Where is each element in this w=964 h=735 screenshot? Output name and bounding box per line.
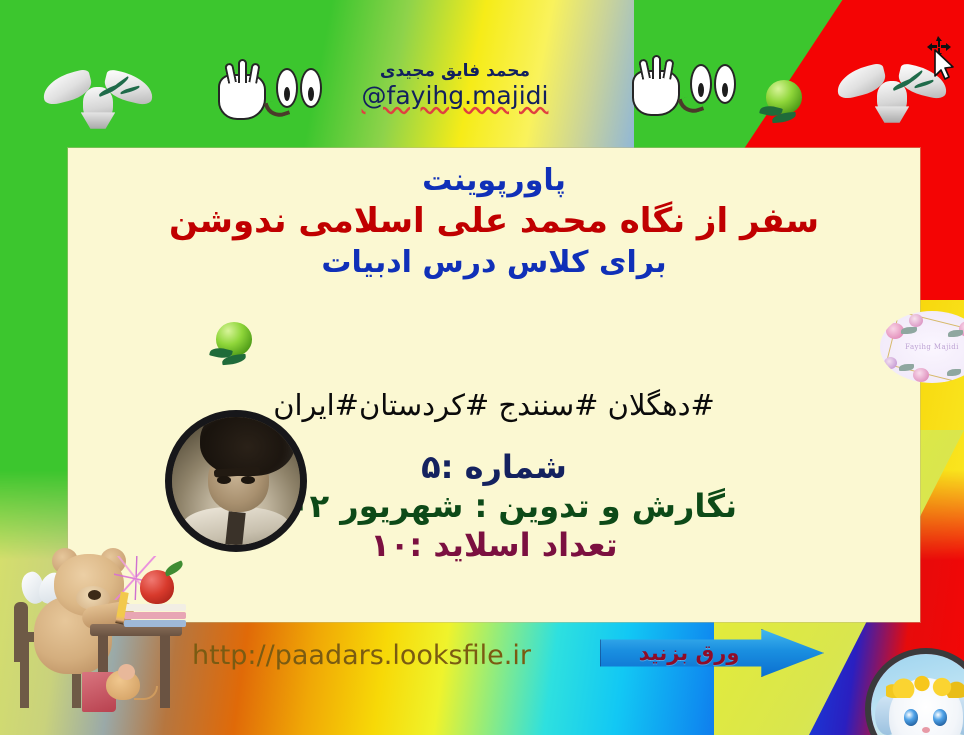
title-line-3: برای کلاس درس ادبیات [68, 244, 920, 282]
next-slide-button[interactable]: ورق بزنید [600, 629, 824, 677]
wreath-script-text: Fayihg Majidi [880, 343, 964, 351]
puppy-avatar-image [865, 648, 964, 735]
waving-hand-and-eyes-icon [632, 62, 750, 124]
mouse-cursor [920, 36, 960, 84]
move-cursor-icon [920, 36, 960, 84]
author-credit: محمد فایق مجیدی @fayihg.majidi [340, 62, 570, 110]
dove-with-olive-branch-icon [44, 58, 152, 126]
green-apple-icon [762, 80, 806, 120]
slide-title: پاورپوینت سفر از نگاه محمد علی اسلامی ند… [68, 162, 920, 282]
title-line-2: سفر از نگاه محمد علی اسلامی ندوشن [68, 200, 920, 244]
floral-wreath-logo: Fayihg Majidi [880, 311, 964, 383]
green-apple-icon [212, 322, 256, 362]
title-line-1: پاورپوینت [68, 162, 920, 200]
website-url[interactable]: http://paadars.looksfile.ir [192, 640, 531, 671]
author-name: محمد فایق مجیدی [340, 62, 570, 82]
teddy-bear-studying-illustration [8, 520, 214, 725]
next-slide-label: ورق بزنید [614, 629, 764, 677]
waving-hand-and-eyes-icon [218, 66, 336, 128]
slide-viewer: محمد فایق مجیدی @fayihg.majidi پاورپوینت… [0, 0, 964, 735]
author-handle: @fayihg.majidi [340, 82, 570, 111]
